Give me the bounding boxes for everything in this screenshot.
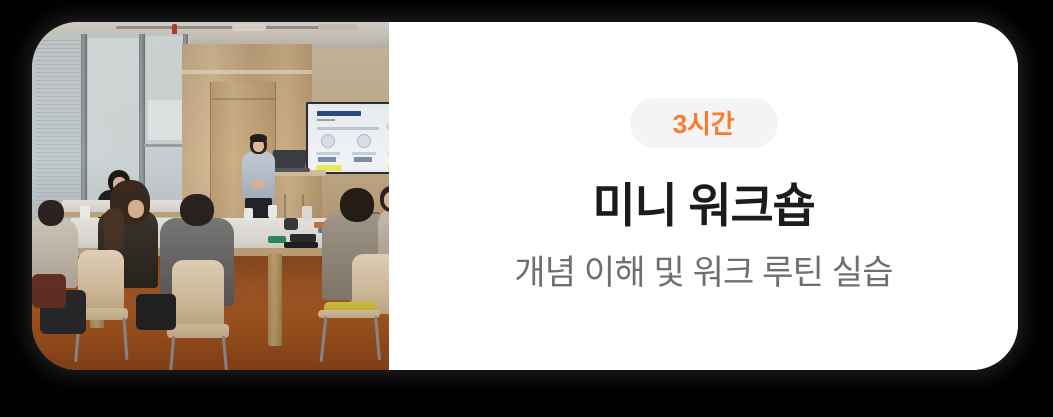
laptop xyxy=(271,150,307,170)
workshop-photo xyxy=(32,22,389,370)
wall-trim xyxy=(182,70,312,74)
ceiling-light xyxy=(232,24,266,31)
participant-hair xyxy=(104,208,124,252)
screenshot-root: 3시간 미니 워크숍 개념 이해 및 워크 루틴 실습 xyxy=(0,0,1053,417)
slide-caption xyxy=(352,152,376,155)
slide-title xyxy=(317,111,361,116)
card-title: 미니 워크숍 xyxy=(592,180,814,232)
participant-head xyxy=(340,188,374,222)
card-content: 3시간 미니 워크숍 개념 이해 및 워크 루틴 실습 xyxy=(389,22,1018,370)
slide-badge xyxy=(386,123,389,130)
desk-item xyxy=(290,234,316,242)
bag xyxy=(32,274,66,308)
slide-body-line xyxy=(317,127,379,130)
slide-caption xyxy=(316,152,340,155)
chair-back xyxy=(172,260,224,330)
desk-item xyxy=(268,236,286,243)
slide-value xyxy=(318,157,336,162)
participant-head xyxy=(180,194,214,226)
ceiling-beam xyxy=(116,26,346,29)
workshop-card[interactable]: 3시간 미니 워크숍 개념 이해 및 워크 루틴 실습 xyxy=(32,22,1018,370)
participant-face xyxy=(128,200,144,218)
tumbler xyxy=(284,218,298,230)
presenter-hair xyxy=(250,134,267,142)
desk-item xyxy=(284,242,318,248)
ceiling-light xyxy=(318,24,358,31)
window-glare xyxy=(148,100,184,140)
presenter-body xyxy=(242,152,275,200)
slide-caption xyxy=(388,152,389,155)
duration-badge: 3시간 xyxy=(630,98,778,148)
presenter-hands xyxy=(251,180,266,188)
participant-head xyxy=(38,200,64,226)
slide-icon xyxy=(357,134,371,148)
table-leg xyxy=(268,254,282,346)
card-subtitle: 개념 이해 및 워크 루틴 실습 xyxy=(514,253,893,294)
participant-face xyxy=(384,192,389,208)
slide-value xyxy=(354,157,372,162)
slide-subtitle xyxy=(317,119,335,121)
paper-cup xyxy=(80,206,90,220)
paper-cup xyxy=(302,206,312,221)
paper-cup xyxy=(244,208,253,221)
chair-seat xyxy=(167,324,229,338)
paper-cup xyxy=(268,205,277,219)
door-seam xyxy=(212,98,274,100)
slide-highlight xyxy=(388,165,389,171)
bag xyxy=(136,294,176,330)
slide-icon xyxy=(321,134,335,148)
